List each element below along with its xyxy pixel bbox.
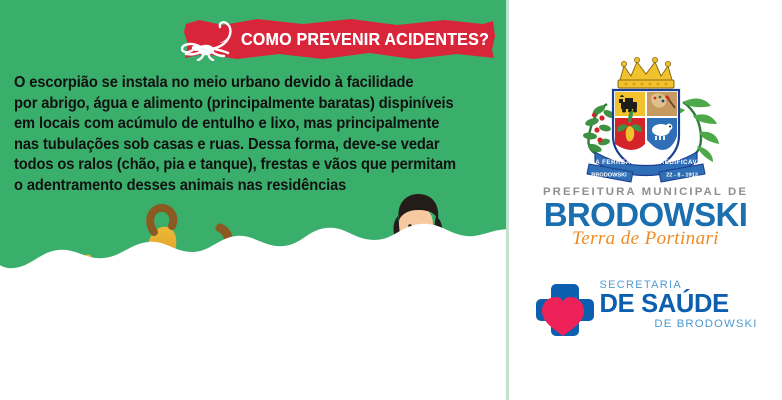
scorpion-flashcard — [372, 268, 424, 334]
kids-illustration — [268, 190, 506, 400]
health-logo-text: SECRETARIA DE SAÚDE DE BRODOWSKI — [600, 277, 760, 337]
scorpion-photo — [0, 196, 292, 400]
coat-of-arms-icon: VIA FERREA URBEM AEDIFICAVIT BRODOWSKI 2… — [571, 52, 721, 184]
health-line-de-brodowski: DE BRODOWSKI — [600, 317, 760, 331]
banner-como-prevenir-acidentes: COMO PREVENIR ACIDENTES? — [183, 18, 496, 60]
coffee-branch-icon — [582, 103, 615, 154]
ribbon-left-text: BRODOWSKI — [591, 173, 627, 179]
ribbon-right-text: 22 - 8 - 1913 — [666, 173, 698, 179]
scorpion-tail — [9, 260, 111, 384]
crown-icon — [618, 57, 674, 88]
heart-cross-icon — [532, 280, 598, 338]
body-line: nas tubulações sob casas e ruas. Dessa f… — [14, 135, 471, 156]
body-line: todos os ralos (chão, pia e tanque), fre… — [14, 155, 471, 176]
health-line-de-saude: DE SAÚDE — [600, 292, 760, 317]
prefeitura-logo: VIA FERREA URBEM AEDIFICAVIT BRODOWSKI 2… — [530, 52, 762, 249]
secretaria-de-saude-logo: SECRETARIA DE SAÚDE DE BRODOWSKI — [532, 277, 760, 339]
body-line: por abrigo, água e alimento (principalme… — [14, 94, 471, 115]
logo-column: VIA FERREA URBEM AEDIFICAVIT BRODOWSKI 2… — [509, 0, 782, 400]
body-line: o adentramento desses animais nas residê… — [14, 176, 471, 197]
motto-text: VIA FERREA URBEM AEDIFICAVIT — [588, 159, 703, 166]
banner-title: COMO PREVENIR ACIDENTES? — [241, 18, 468, 60]
green-content-panel: COMO PREVENIR ACIDENTES? O escorpião se … — [0, 0, 506, 400]
body-copy: O escorpião se instala no meio urbano de… — [14, 73, 471, 197]
poster-root: COMO PREVENIR ACIDENTES? O escorpião se … — [0, 0, 782, 400]
city-name: BRODOWSKI — [530, 198, 762, 232]
body-line: O escorpião se instala no meio urbano de… — [14, 73, 471, 94]
body-line: em locais com acúmulo de entulho e lixo,… — [14, 114, 471, 135]
scorpion-icon — [179, 19, 245, 61]
